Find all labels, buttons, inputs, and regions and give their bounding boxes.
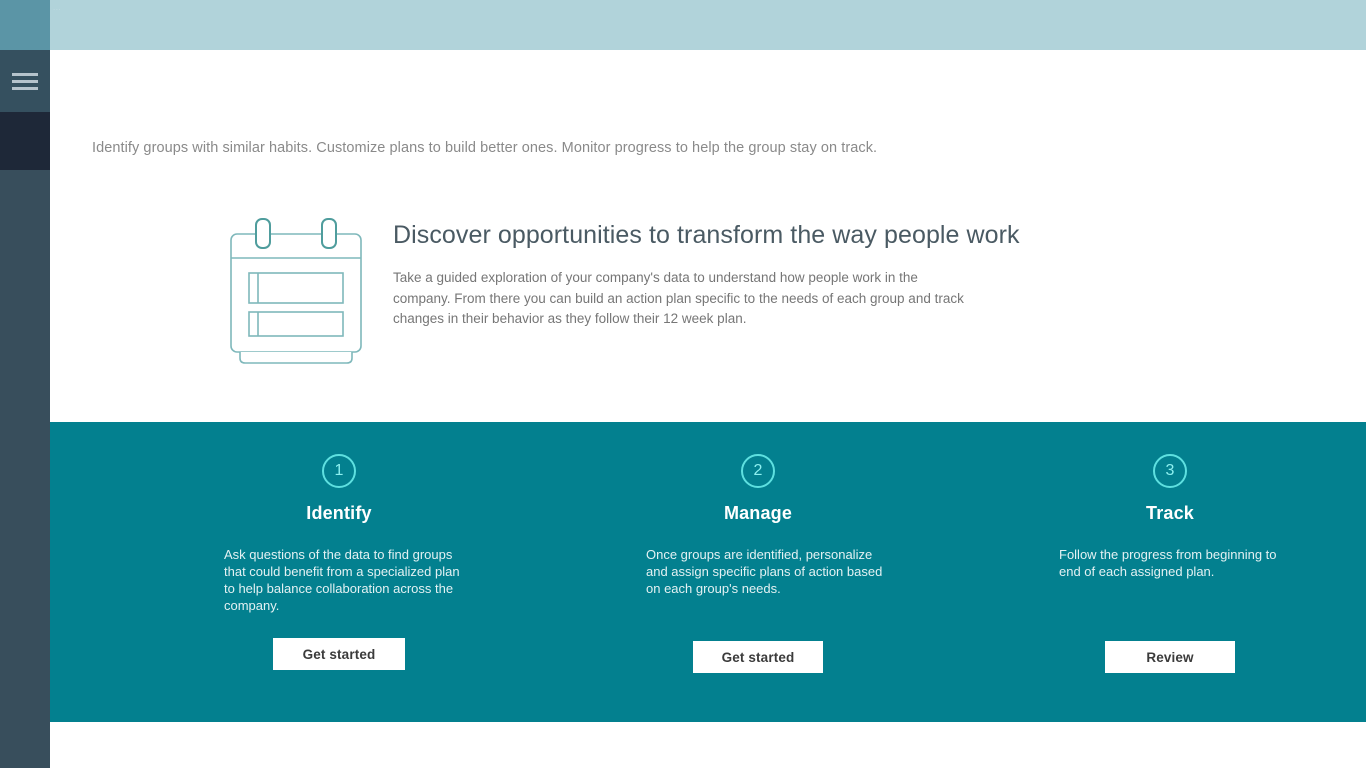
steps-container: 1 Identify Ask questions of the data to … <box>50 422 1366 722</box>
calendar-notepad-illustration <box>218 210 393 371</box>
app-root: ... Identify groups with similar habits.… <box>0 0 1366 768</box>
top-header-bar: ... <box>50 0 1366 50</box>
step-description: Ask questions of the data to find groups… <box>224 546 464 614</box>
left-nav-rail <box>0 0 50 768</box>
hero-body: Take a guided exploration of your compan… <box>393 268 978 330</box>
hamburger-menu-button[interactable] <box>0 50 50 112</box>
step-title: Identify <box>214 503 464 524</box>
hamburger-icon <box>12 73 38 90</box>
footer-strip <box>50 722 1366 768</box>
hero-text-block: Discover opportunities to transform the … <box>393 210 993 330</box>
sidebar-item-active[interactable] <box>0 112 50 170</box>
step-title: Manage <box>633 503 883 524</box>
step-number-badge: 3 <box>1153 454 1187 488</box>
step-action-button-track[interactable]: Review <box>1105 641 1235 673</box>
hamburger-bar <box>12 80 38 83</box>
step-title: Track <box>1045 503 1295 524</box>
hero-section: Discover opportunities to transform the … <box>218 210 993 371</box>
step-number-badge: 1 <box>322 454 356 488</box>
steps-band: 1 Identify Ask questions of the data to … <box>50 422 1366 722</box>
calendar-notepad-svg <box>218 216 393 366</box>
step-number-badge: 2 <box>741 454 775 488</box>
topbar-ghost-text: ... <box>53 3 67 12</box>
hamburger-bar <box>12 87 38 90</box>
hamburger-bar <box>12 73 38 76</box>
step-action-button-manage[interactable]: Get started <box>693 641 823 673</box>
step-description: Follow the progress from beginning to en… <box>1059 546 1299 580</box>
main-content-area: Identify groups with similar habits. Cus… <box>50 50 1366 422</box>
brand-tile[interactable] <box>0 0 50 50</box>
step-card-manage: 2 Manage Once groups are identified, per… <box>633 454 883 673</box>
step-card-track: 3 Track Follow the progress from beginni… <box>1045 454 1295 673</box>
step-card-identify: 1 Identify Ask questions of the data to … <box>214 454 464 670</box>
hero-title: Discover opportunities to transform the … <box>393 220 993 250</box>
page-lede: Identify groups with similar habits. Cus… <box>92 140 877 156</box>
step-action-button-identify[interactable]: Get started <box>273 638 405 670</box>
step-description: Once groups are identified, personalize … <box>646 546 886 597</box>
